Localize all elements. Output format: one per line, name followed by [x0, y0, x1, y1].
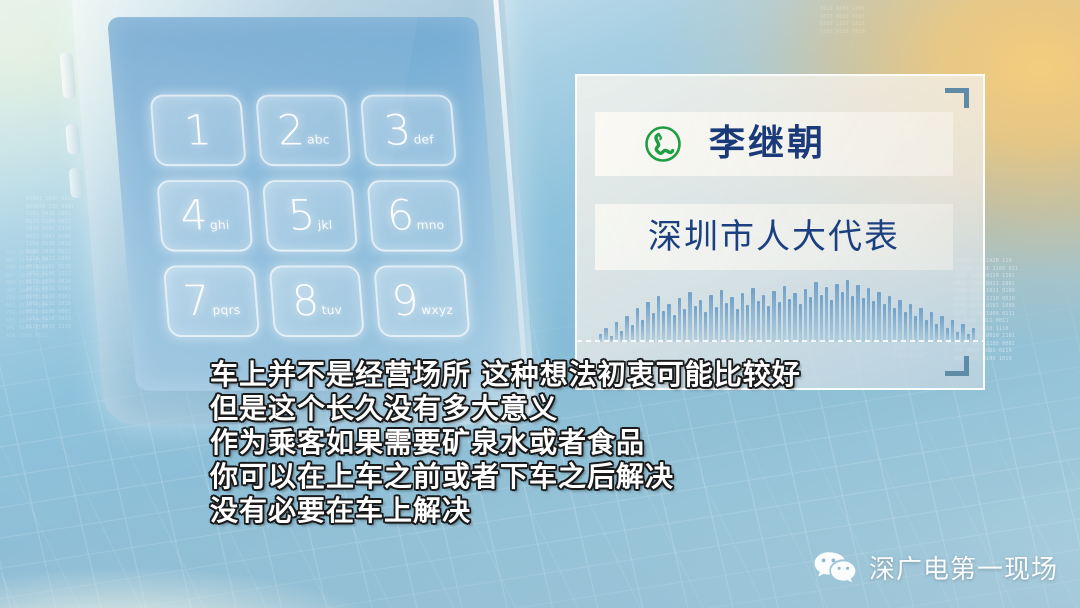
waveform-bar [757, 301, 760, 342]
keypad-key-8[interactable]: 8tuv [268, 266, 365, 338]
keypad-digit: 2 [276, 110, 306, 152]
waveform-bar [888, 296, 891, 342]
waveform-bar [636, 308, 639, 342]
keypad-key-3[interactable]: 3def [360, 95, 457, 167]
waveform-bar [772, 291, 775, 342]
waveform-bar [856, 285, 859, 342]
keypad-key-6[interactable]: 6mno [367, 180, 464, 252]
waveform-bar [925, 320, 928, 342]
waveform-bar [841, 292, 844, 342]
keypad-digit: 4 [179, 195, 209, 237]
phone-screen: 12abc3def4ghi5jkl6mno7pqrs8tuv9wxyz [107, 17, 507, 391]
keypad-letters: jkl [317, 218, 333, 232]
keypad-key-5[interactable]: 5jkl [262, 180, 359, 252]
waveform-bar [799, 304, 802, 342]
waveform-bar [851, 296, 854, 342]
background-code-text-top-right: 0110 1001 1100 1010 0011 0101 0100 1110 … [820, 6, 930, 36]
waveform-bar [741, 293, 744, 342]
waveform-bar [652, 313, 655, 342]
waveform-bar [846, 280, 849, 342]
waveform-bar [862, 298, 865, 342]
waveform-bar [820, 295, 823, 342]
waveform-bar [678, 298, 681, 342]
waveform-bar [767, 306, 770, 342]
waveform-bar [725, 303, 728, 342]
broadcast-frame: 0110 1001 1100 1010 0011 0101 0100 1110 … [0, 0, 1080, 608]
waveform-bar [662, 311, 665, 342]
keypad-letters: mno [416, 218, 445, 232]
waveform-bar [930, 312, 933, 342]
keypad-digit: 5 [287, 195, 317, 237]
keypad-digit: 8 [290, 280, 320, 322]
caller-name: 李继朝 [709, 126, 826, 162]
channel-watermark: 深广电第一现场 [813, 549, 1058, 586]
keypad-letters: ghi [209, 218, 230, 232]
caller-title: 深圳市人大代表 [648, 220, 900, 254]
waveform-bar [825, 287, 828, 342]
subtitle-line: 车上并不是经营场所 这种想法初衷可能比较好 [210, 358, 970, 392]
phone-keypad: 12abc3def4ghi5jkl6mno7pqrs8tuv9wxyz [149, 95, 470, 337]
waveform-bar [709, 295, 712, 342]
keypad-letters: def [413, 132, 434, 146]
waveform-bar [688, 292, 691, 342]
caller-name-banner: 李继朝 [595, 112, 953, 176]
waveform-bar [625, 316, 628, 342]
waveform-bar [720, 290, 723, 342]
waveform-bar [809, 297, 812, 342]
waveform-bar [694, 306, 697, 342]
waveform-bar [657, 296, 660, 342]
waveform-bar [751, 288, 754, 342]
waveform-bar [804, 289, 807, 342]
waveform-bar [699, 300, 702, 342]
keypad-letters: tuv [321, 303, 343, 317]
waveform-bar [646, 302, 649, 342]
waveform-bar [877, 292, 880, 342]
corner-bracket-top-right-icon [945, 88, 969, 108]
waveform-bar [683, 309, 686, 342]
watermark-label: 深广电第一现场 [869, 549, 1058, 586]
caller-title-banner: 深圳市人大代表 [595, 204, 953, 270]
keypad-digit: 3 [382, 110, 412, 152]
subtitle-block: 车上并不是经营场所 这种想法初衷可能比较好但是这个长久没有多大意义作为乘客如果需… [210, 358, 970, 528]
waveform-bar [730, 297, 733, 342]
caller-info-panel: 李继朝 深圳市人大代表 [575, 74, 985, 390]
waveform-bar [715, 307, 718, 342]
waveform-bar [793, 293, 796, 342]
waveform-bar [919, 308, 922, 342]
phone-call-icon [643, 124, 683, 164]
waveform-bar [778, 302, 781, 342]
waveform-bar [830, 300, 833, 342]
waveform-bar [940, 316, 943, 342]
keypad-letters: abc [307, 132, 331, 146]
waveform-bar [835, 284, 838, 342]
waveform-bar [867, 288, 870, 342]
subtitle-line: 但是这个长久没有多大意义 [210, 392, 970, 426]
waveform-bar [615, 322, 618, 342]
waveform-bar [914, 316, 917, 342]
phone-side-button-lower [69, 168, 84, 198]
waveform-bar [641, 320, 644, 342]
keypad-key-9[interactable]: 9wxyz [374, 266, 471, 338]
audio-waveform-baseline [577, 340, 983, 342]
keypad-digit: 1 [183, 110, 213, 152]
keypad-letters: pqrs [212, 303, 241, 317]
keypad-digit: 9 [390, 280, 420, 322]
waveform-bar [893, 308, 896, 342]
waveform-bar [746, 305, 749, 342]
subtitle-line: 没有必要在车上解决 [210, 494, 970, 528]
phone-side-button-middle [65, 124, 80, 154]
keypad-key-2[interactable]: 2abc [255, 95, 352, 167]
keypad-digit: 7 [181, 280, 211, 322]
waveform-bar [736, 309, 739, 342]
keypad-letters: wxyz [421, 303, 454, 317]
waveform-bar [673, 315, 676, 342]
keypad-key-4[interactable]: 4ghi [156, 180, 253, 252]
waveform-bar [788, 299, 791, 342]
keypad-key-7[interactable]: 7pqrs [163, 266, 260, 338]
waveform-bar [898, 300, 901, 342]
wechat-icon [813, 550, 857, 586]
background-code-text-left-secondary: SYS 0x3A1F NET 1100 0110 CHK 0101 1011 B… [6, 250, 106, 340]
waveform-bar [704, 312, 707, 342]
waveform-bar [883, 304, 886, 342]
waveform-bar [951, 320, 954, 342]
subtitle-line: 作为乘客如果需要矿泉水或者食品 [210, 426, 970, 460]
audio-waveform [599, 278, 975, 342]
waveform-bar [783, 286, 786, 342]
waveform-bar [909, 304, 912, 342]
keypad-key-1[interactable]: 1 [149, 95, 246, 167]
waveform-bar [904, 312, 907, 342]
waveform-bar [667, 304, 670, 342]
waveform-bar [762, 295, 765, 342]
subtitle-line: 你可以在上车之前或者下车之后解决 [210, 460, 970, 494]
waveform-bar [814, 282, 817, 342]
keypad-digit: 6 [385, 195, 415, 237]
waveform-bar [872, 301, 875, 342]
